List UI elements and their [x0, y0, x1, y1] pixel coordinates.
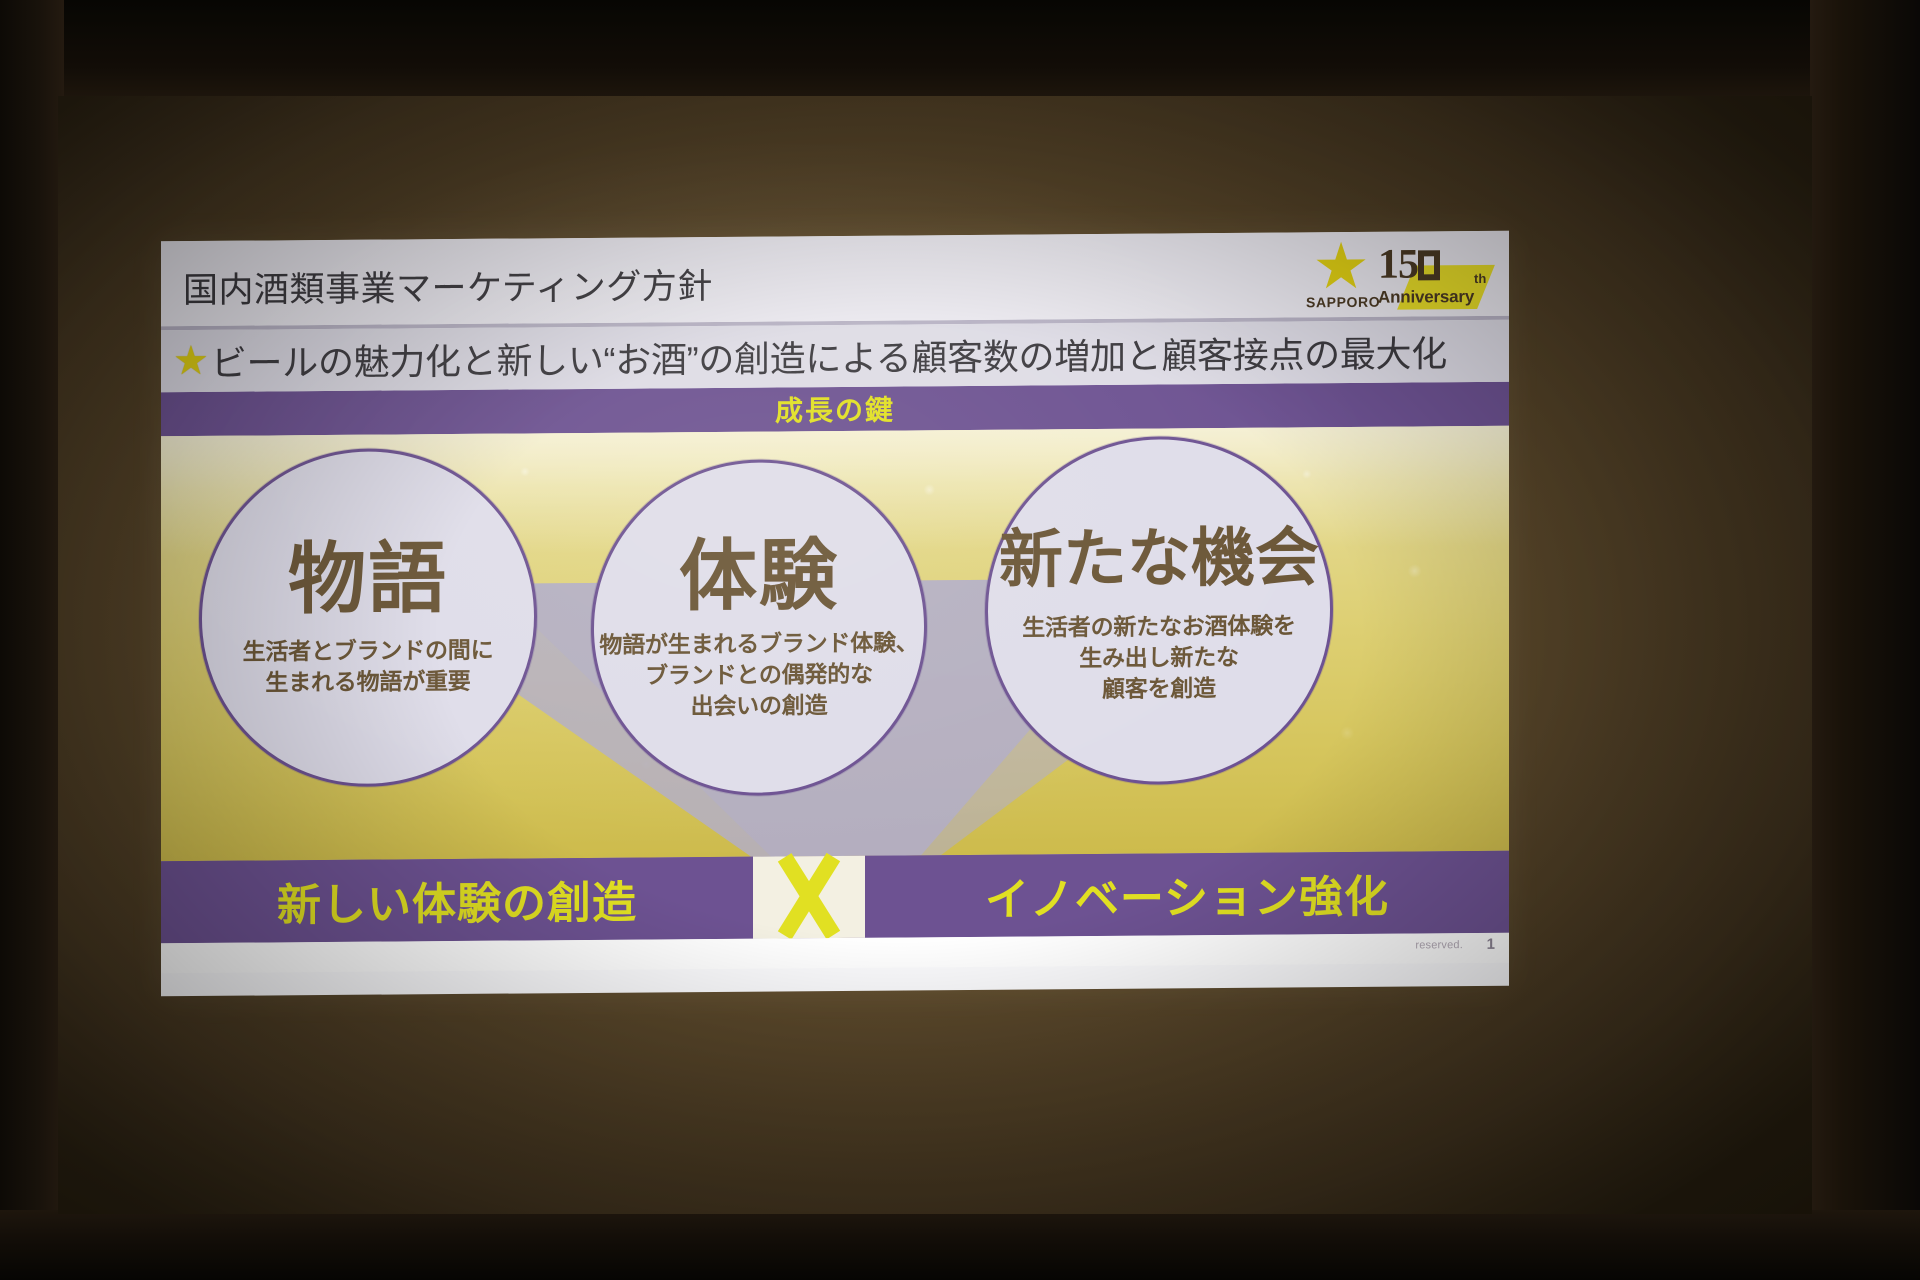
- room-wall-left: [0, 0, 64, 1280]
- sapporo-150th-logo: ★ SAPPORO 15 th Anniversary: [1306, 235, 1491, 314]
- page-number: 1: [1487, 936, 1495, 953]
- pillar-heading: 体験: [679, 533, 839, 616]
- star-icon: ★: [1310, 240, 1372, 300]
- pillar-circle-3: 新たな機会 生活者の新たなお酒体験を生み出し新たな顧客を創造: [985, 435, 1333, 786]
- pillar-circle-2: 体験 物語が生まれるブランド体験、ブランドとの偶発的な出会いの創造: [591, 458, 927, 797]
- x-mark-icon: [753, 846, 865, 947]
- outcome-right-label: イノベーション強化: [985, 861, 1389, 928]
- pillar-circle-1: 物語 生活者とブランドの間に生まれる物語が重要: [199, 447, 537, 788]
- slide-header: 国内酒類事業マーケティング方針 ★ SAPPORO 15 th Annivers…: [161, 231, 1509, 327]
- zero-square-glyph: [1418, 250, 1440, 280]
- outcome-left-label: 新しい体験の創造: [277, 867, 637, 934]
- projection-screen: 国内酒類事業マーケティング方針 ★ SAPPORO 15 th Annivers…: [58, 96, 1812, 1214]
- subtitle-text: ビールの魅力化と新しい“お酒”の創造による顧客数の増加と顧客接点の最大化: [211, 325, 1447, 387]
- outcome-bar: 新しい体験の創造 イノベーション強化: [161, 851, 1509, 944]
- room-wall-bottom: [0, 1210, 1920, 1280]
- copyright-text: reserved.: [1415, 939, 1463, 951]
- growth-key-label: 成長の鍵: [775, 389, 895, 430]
- pillar-heading: 物語: [288, 537, 448, 620]
- star-icon: ★: [173, 341, 209, 381]
- pillar-caption: 生活者とブランドの間に生まれる物語が重要: [243, 635, 494, 699]
- anniversary-mark: 15 th Anniversary: [1378, 237, 1490, 312]
- outcome-right: イノベーション強化: [865, 851, 1509, 938]
- pillar-heading: 新たな機会: [999, 516, 1319, 601]
- page-title: 国内酒類事業マーケティング方針: [183, 258, 713, 313]
- room-wall-top: [0, 0, 1920, 96]
- sapporo-brand-mark: ★ SAPPORO: [1306, 238, 1378, 313]
- ordinal-suffix: th: [1474, 271, 1486, 286]
- pillar-caption: 物語が生まれるブランド体験、ブランドとの偶発的な出会いの創造: [599, 627, 918, 723]
- diagram-area: 物語 生活者とブランドの間に生まれる物語が重要 体験 物語が生まれるブランド体験…: [161, 426, 1509, 862]
- anniversary-label: Anniversary: [1378, 287, 1474, 308]
- presentation-slide: 国内酒類事業マーケティング方針 ★ SAPPORO 15 th Annivers…: [161, 231, 1509, 997]
- anniversary-number: 15: [1378, 243, 1440, 285]
- slide-subtitle-bar: ★ ビールの魅力化と新しい“お酒”の創造による顧客数の増加と顧客接点の最大化: [161, 320, 1509, 393]
- photo-of-projected-slide: 国内酒類事業マーケティング方針 ★ SAPPORO 15 th Annivers…: [0, 0, 1920, 1280]
- sapporo-wordmark: SAPPORO: [1306, 294, 1378, 311]
- pillar-caption: 生活者の新たなお酒体験を生み出し新たな顧客を創造: [1022, 610, 1296, 705]
- outcome-left: 新しい体験の創造: [161, 857, 753, 944]
- room-wall-right: [1810, 0, 1920, 1280]
